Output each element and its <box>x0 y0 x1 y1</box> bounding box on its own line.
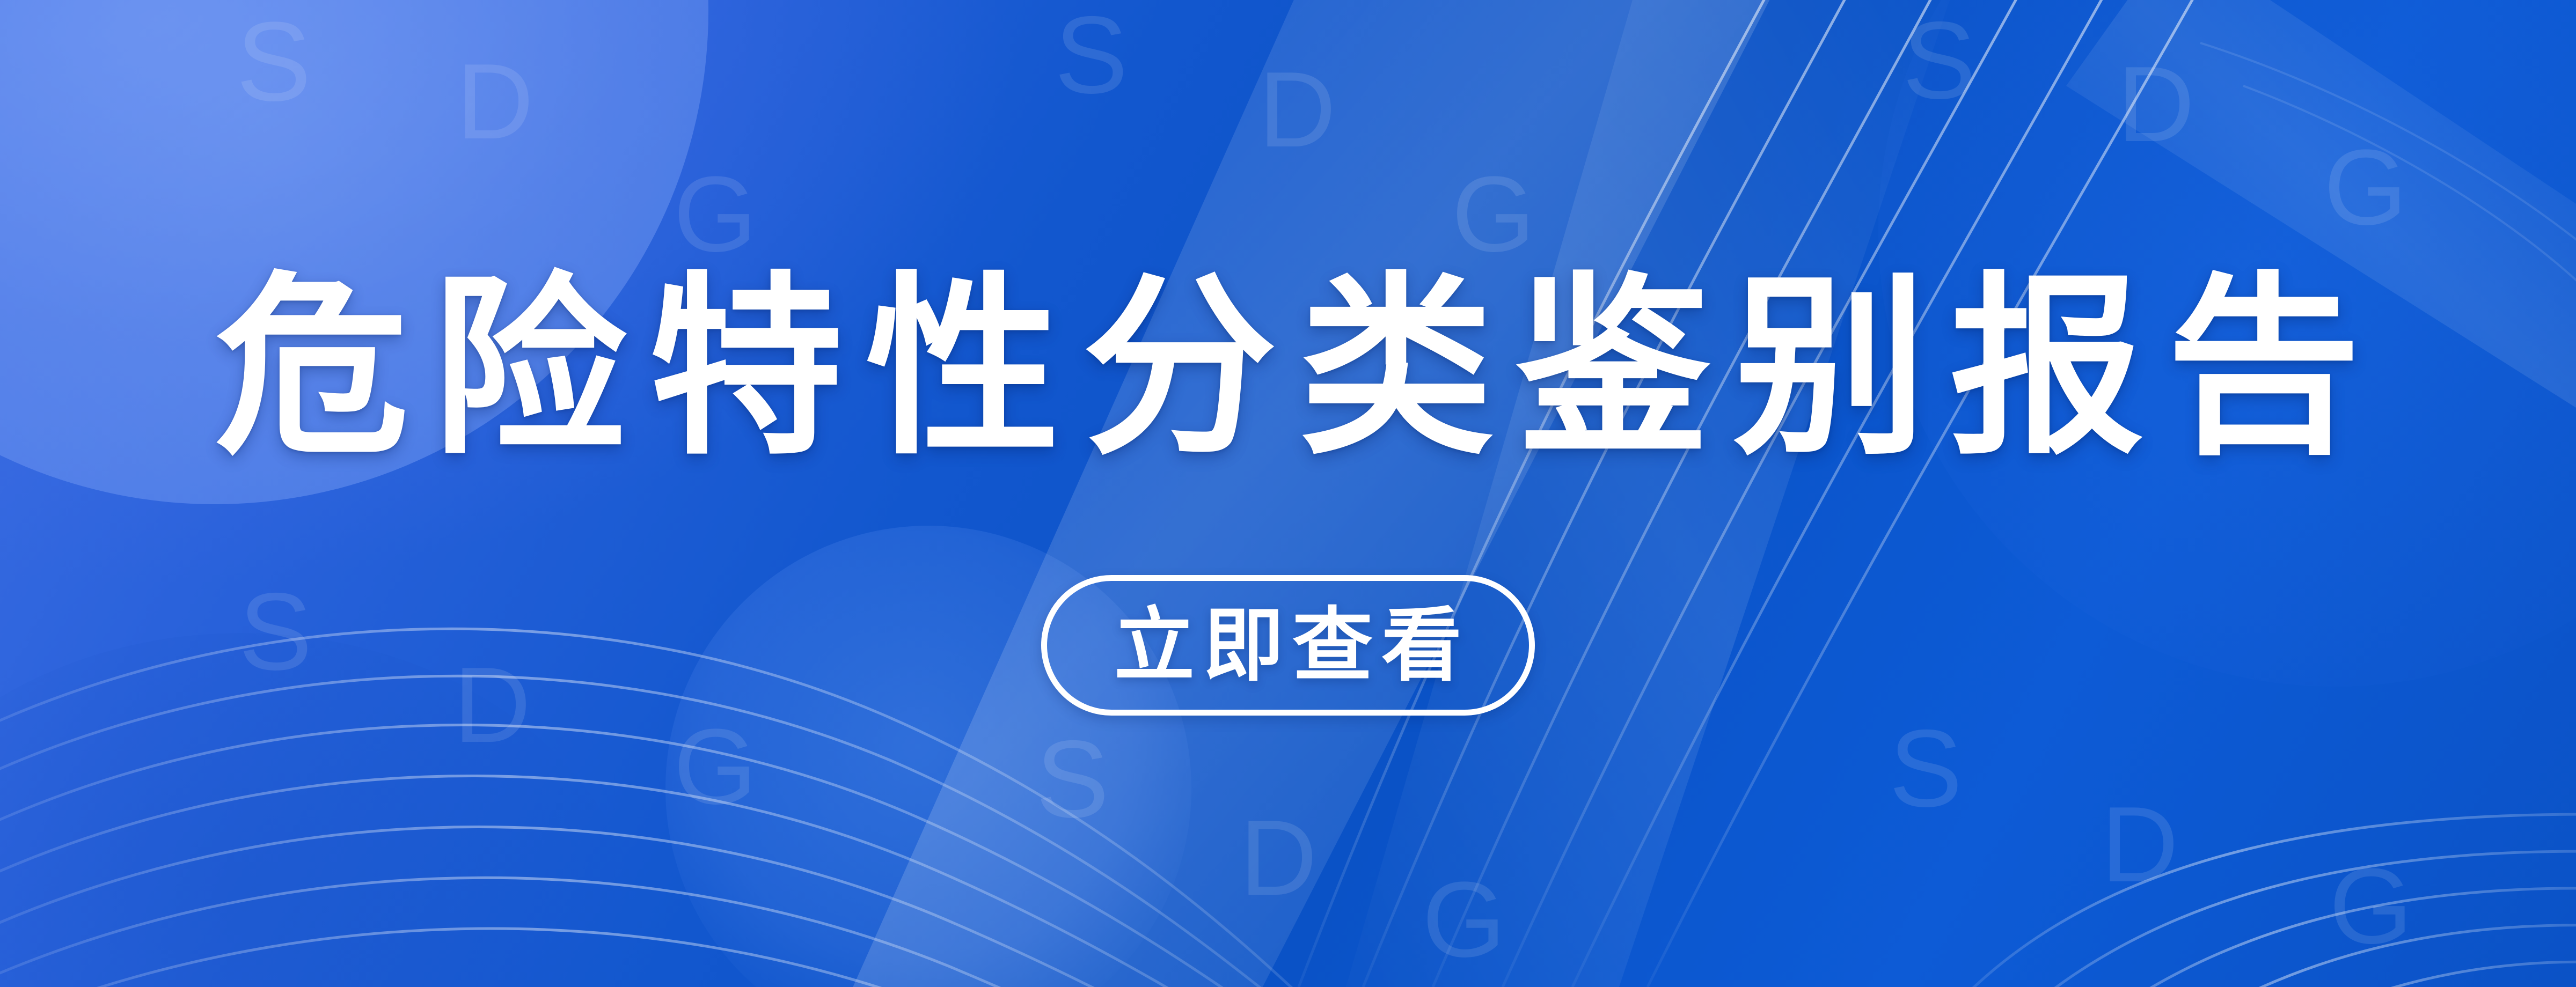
banner-content: 危险特性分类鉴别报告 立即查看 <box>0 0 2576 987</box>
view-now-button[interactable]: 立即查看 <box>1041 575 1535 716</box>
banner-root: SDGSDGSDGSDGSDGSDG 危险特性分类鉴别报告 立即查看 <box>0 0 2576 987</box>
view-now-button-label: 立即查看 <box>1106 605 1470 686</box>
page-title: 危险特性分类鉴别报告 <box>193 271 2383 465</box>
